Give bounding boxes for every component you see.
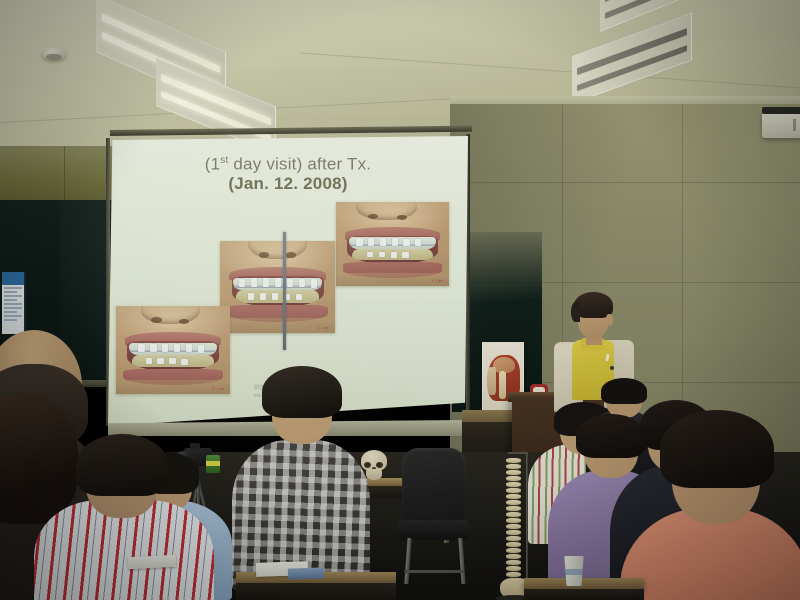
chair-leg — [458, 538, 465, 584]
lecture-hall-photo: (1st day visit) after Tx. (Jan. 12. 2008… — [0, 0, 800, 600]
chair-backrest — [402, 448, 466, 526]
handout-booklet — [288, 567, 324, 579]
chair-crossbar — [404, 570, 464, 573]
midline-reference-line — [283, 232, 286, 350]
clinical-photo-left-lower: J. Lee — [116, 306, 230, 394]
empty-chair[interactable] — [398, 448, 470, 578]
photo-stamp-center: J. Lee — [317, 325, 329, 330]
presenter-ear — [606, 314, 613, 325]
slide-title: (1st day visit) after Tx. — [108, 150, 468, 176]
wall-mounted-speaker — [762, 112, 800, 138]
camera-viewfinder — [190, 443, 200, 449]
front-desk-right-front — [524, 589, 644, 600]
slide-date-line: (Jan. 12. 2008) — [108, 174, 468, 194]
paper-on-left-desk — [128, 555, 177, 569]
front-desk-left-front — [236, 583, 396, 600]
chair-leg — [404, 538, 411, 584]
wall-notice-sheet — [2, 272, 26, 334]
slide-title-prefix: (1 — [205, 155, 221, 174]
smoke-detector-icon — [42, 47, 66, 60]
clinical-photo-right-upper: J. Lee — [336, 202, 449, 286]
clinical-photo-center: J. Lee — [220, 241, 335, 333]
green-beverage-can — [206, 455, 220, 473]
slide-title-suffix: day visit) after Tx. — [228, 155, 371, 174]
photo-stamp-right: J. Lee — [431, 278, 443, 283]
spine-model-rod-top — [508, 452, 528, 454]
presenter-lapel-mic — [610, 366, 614, 370]
paper-cup — [563, 556, 585, 586]
